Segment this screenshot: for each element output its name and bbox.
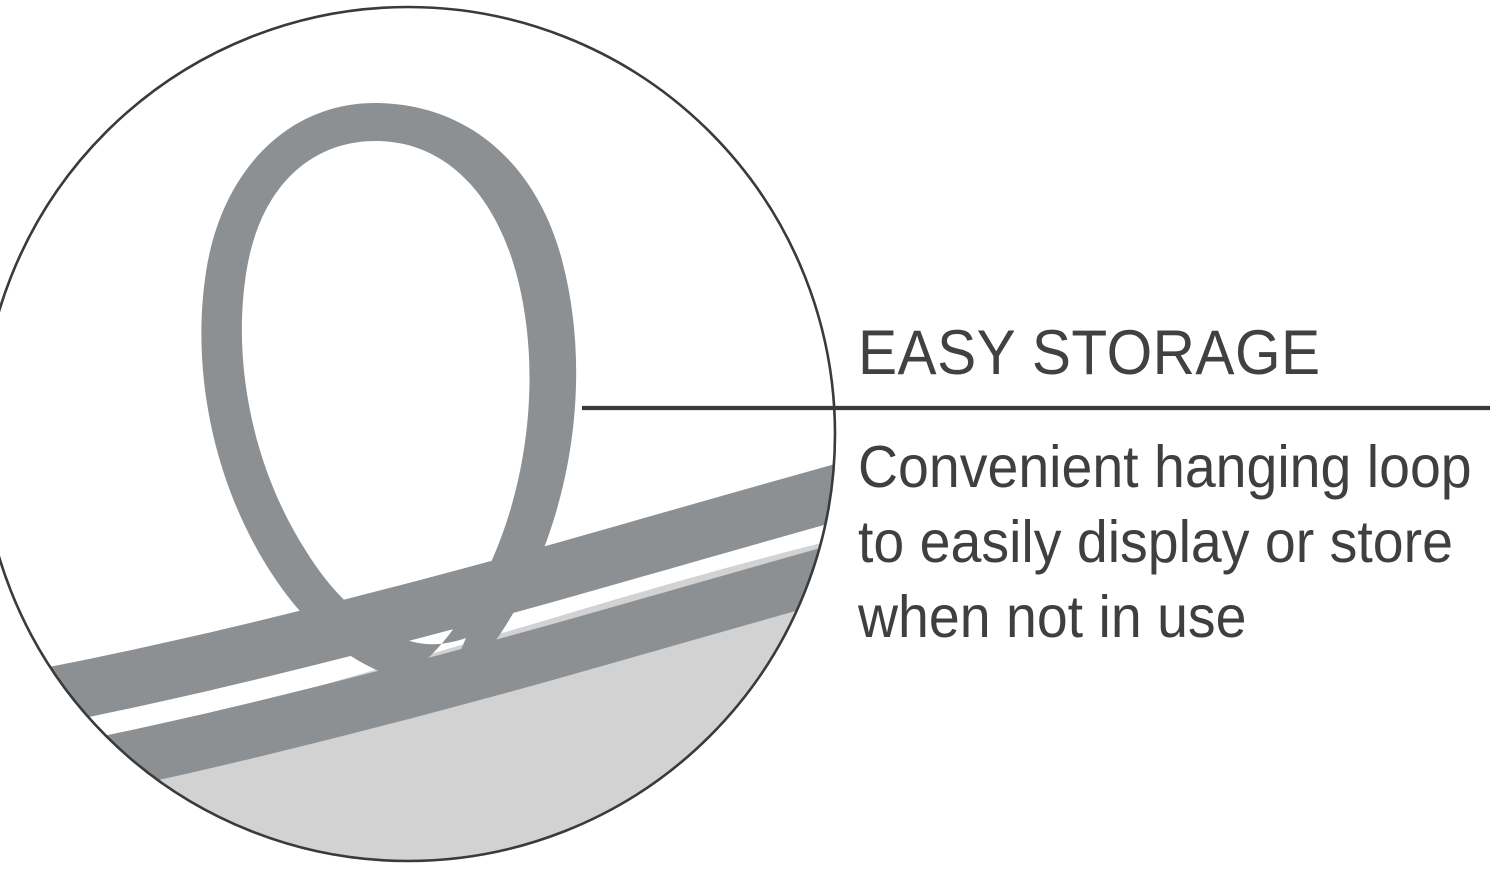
callout-description-line-1: Convenient hanging loop bbox=[858, 430, 1478, 505]
easy-storage-callout: EASY STORAGE Convenient hanging loop to … bbox=[0, 0, 1500, 872]
callout-text-block: EASY STORAGE Convenient hanging loop to … bbox=[858, 318, 1498, 388]
callout-description-line-2: to easily display or store bbox=[858, 505, 1478, 580]
callout-description: Convenient hanging loop to easily displa… bbox=[858, 430, 1478, 655]
callout-description-line-3: when not in use bbox=[858, 580, 1478, 655]
detail-illustration bbox=[0, 0, 840, 872]
callout-title: EASY STORAGE bbox=[858, 318, 1453, 388]
